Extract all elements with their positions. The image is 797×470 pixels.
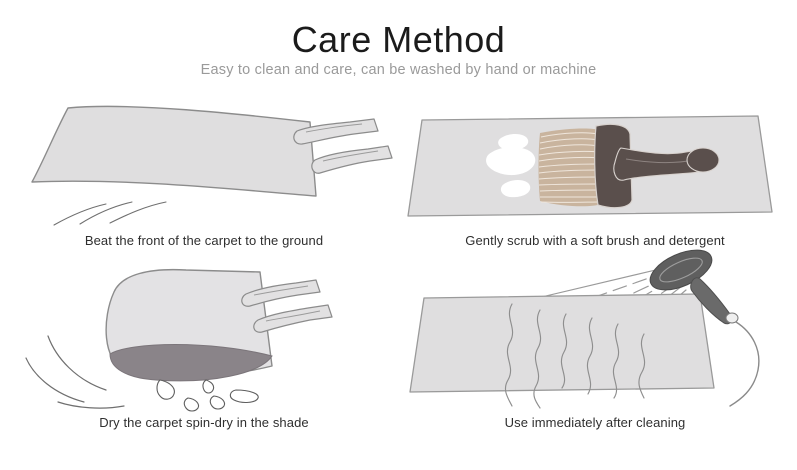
carpet-shape (32, 106, 316, 196)
water-droplets (157, 380, 258, 411)
care-method-infographic: Care Method Easy to clean and care, can … (0, 0, 797, 470)
step-caption-beat-carpet: Beat the front of the carpet to the grou… (10, 232, 398, 250)
carpet-shape (410, 294, 714, 392)
page-title: Care Method (0, 18, 797, 62)
motion-lines (54, 202, 166, 225)
step-card-dry-carpet: Dry the carpet spin-dry in the shade (10, 262, 398, 442)
page-subtitle: Easy to clean and care, can be washed by… (0, 60, 797, 80)
step-caption-use-carpet: Use immediately after cleaning (400, 414, 790, 432)
carpet-scrubbing-illustration (400, 100, 790, 230)
brush-knob (687, 148, 719, 172)
carpet-spin-dry-illustration (10, 262, 398, 412)
brush-bristles (539, 128, 601, 206)
step-card-scrub-carpet: Gently scrub with a soft brush and deter… (400, 100, 790, 255)
carpet-rinsing-illustration (400, 248, 790, 412)
carpet-beating-illustration (10, 100, 398, 230)
shower-hose (730, 322, 759, 406)
step-caption-dry-carpet: Dry the carpet spin-dry in the shade (10, 414, 398, 432)
step-card-use-carpet: Use immediately after cleaning (400, 248, 790, 444)
hand-lower (254, 305, 332, 332)
step-card-beat-carpet: Beat the front of the carpet to the grou… (10, 100, 398, 255)
hand-lower (312, 146, 392, 173)
